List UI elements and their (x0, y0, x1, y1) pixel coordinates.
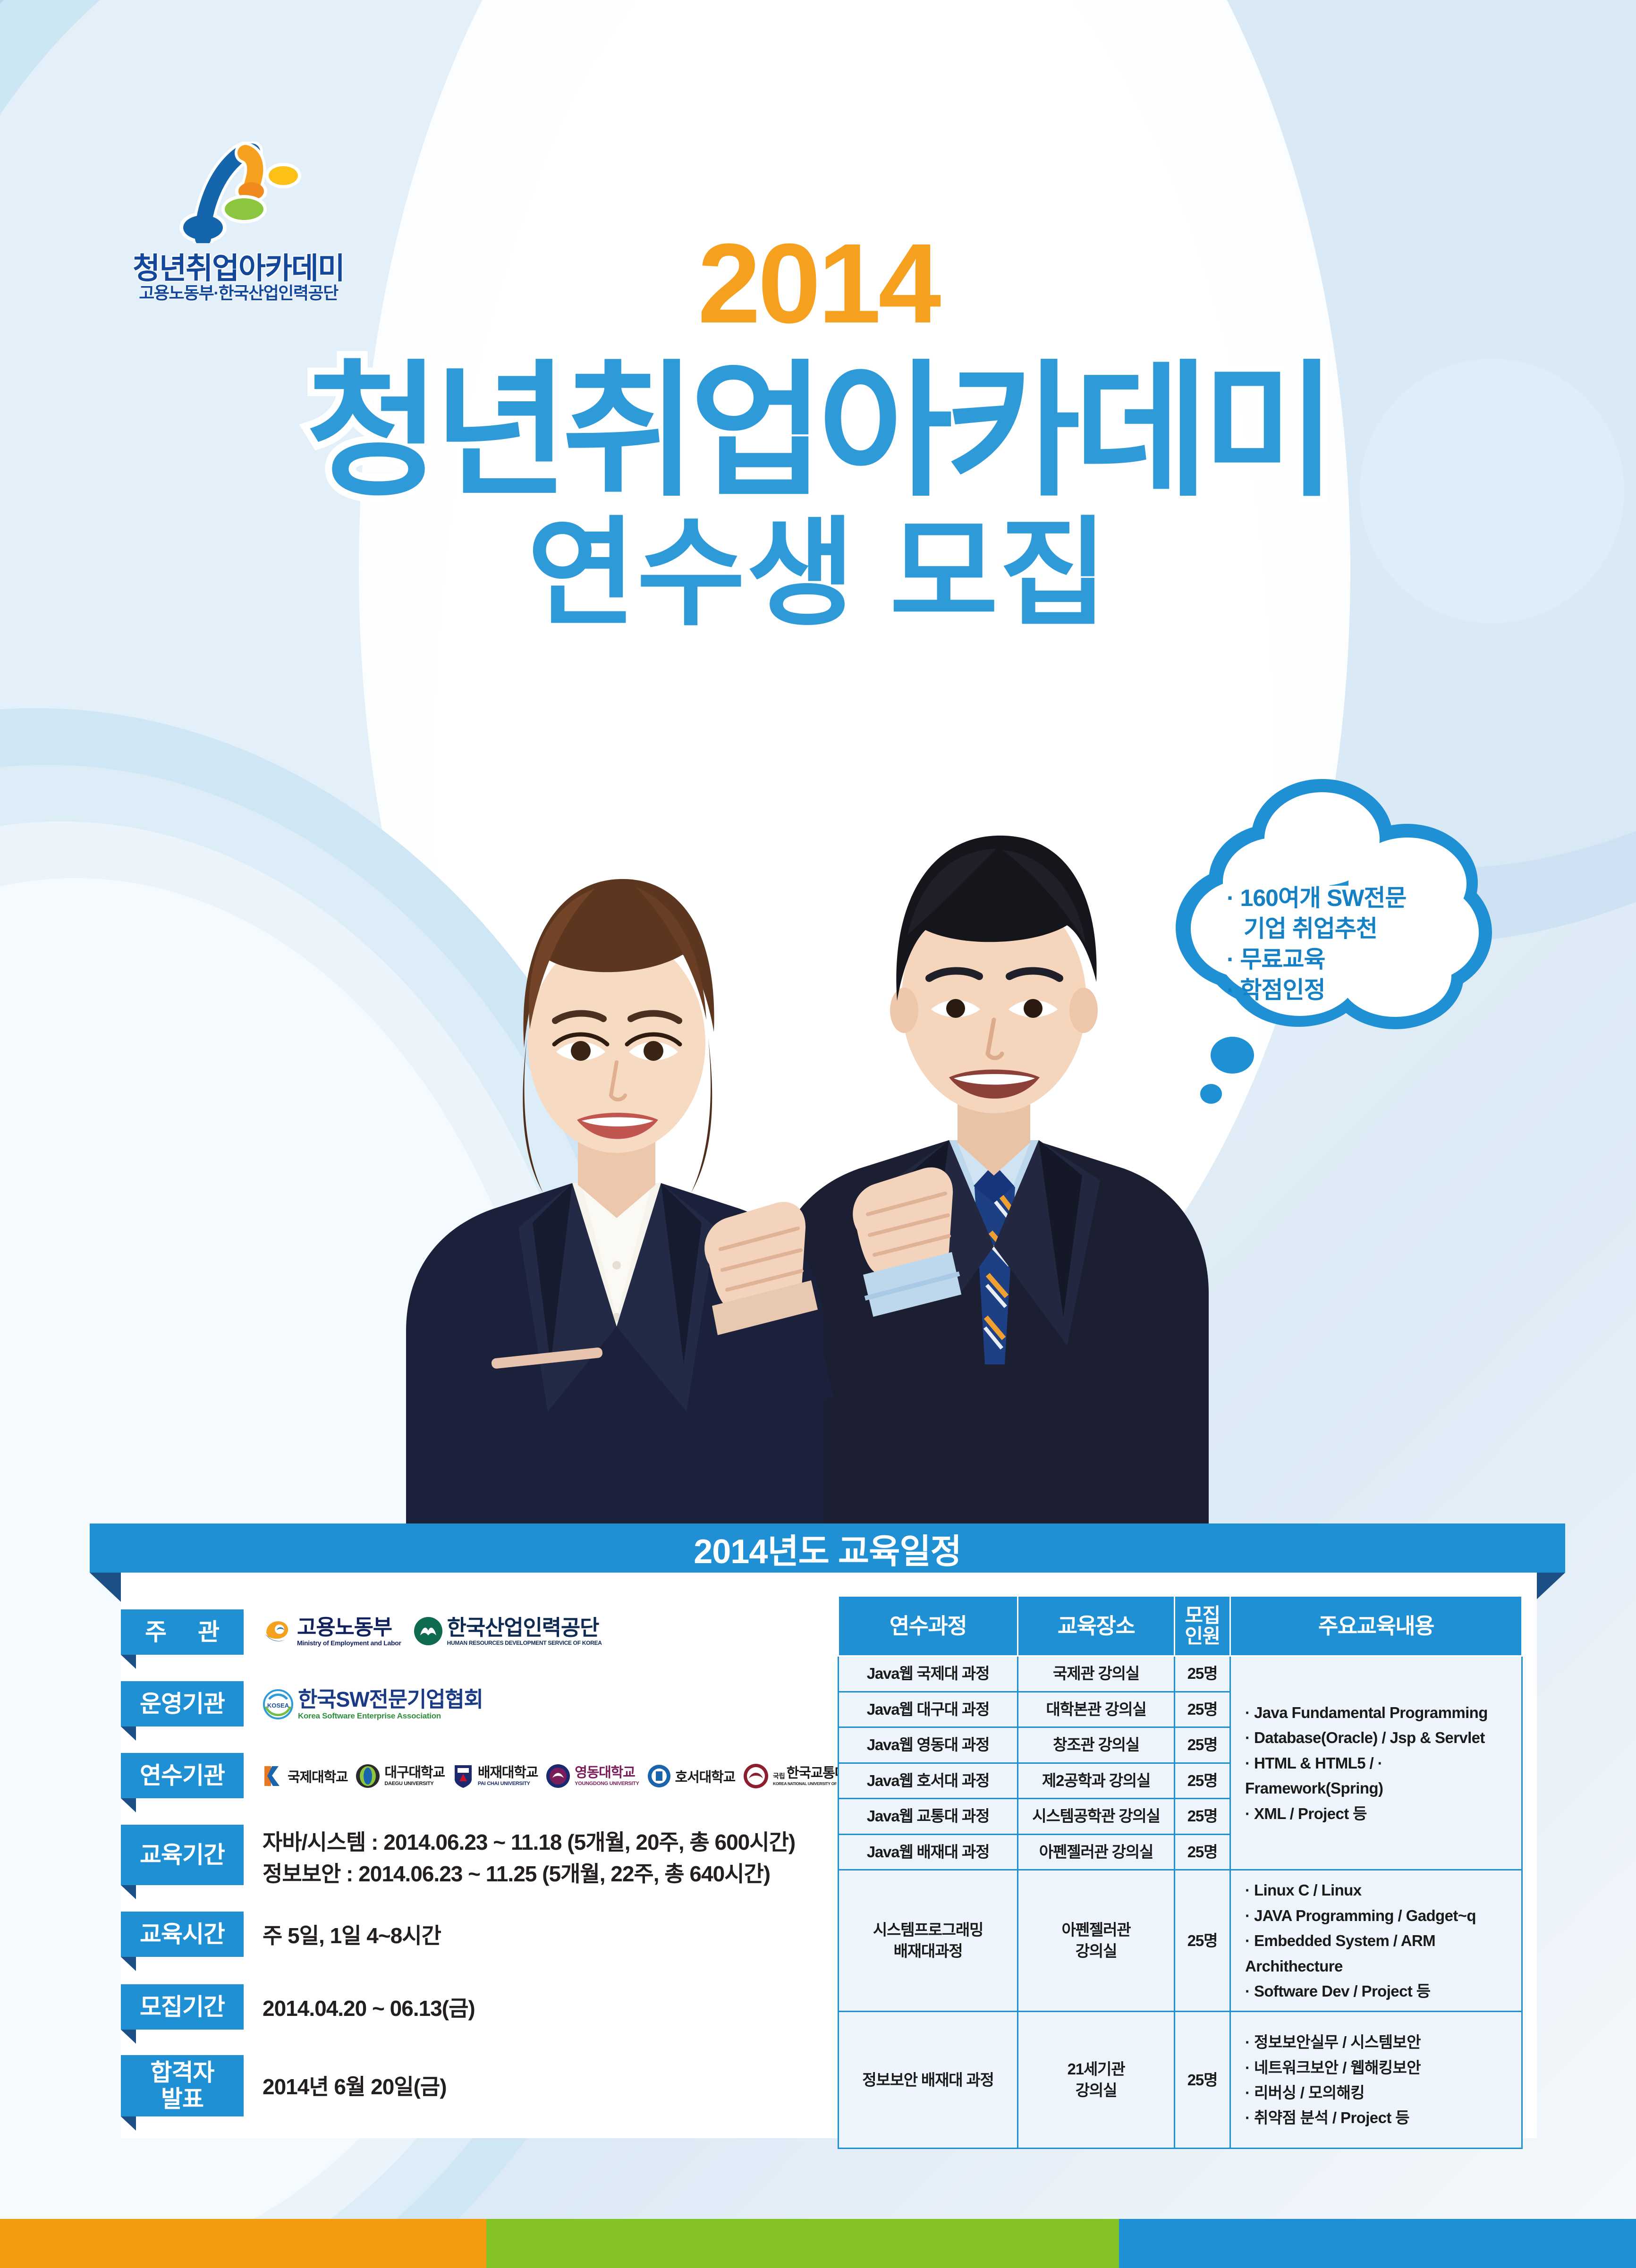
kosea-text: 한국SW전문기업협회 Korea Software Enterprise Ass… (298, 1689, 483, 1720)
host-logos: 고용노동부 Ministry of Employment and Labor 한… (263, 1616, 602, 1646)
info-label-host: 주 관 (121, 1609, 244, 1655)
institution-logos: 국제대학교 대구대학교 DAEGU UNIVERSITY (263, 1763, 873, 1789)
logo-kosea: KOSEA 한국SW전문기업협회 Korea Software Enterpri… (263, 1689, 483, 1720)
header-place: 교육장소 (1018, 1596, 1175, 1656)
content-line: · Java Fundamental Programming (1245, 1700, 1518, 1725)
content-line: · 리버싱 / 모의해킹 (1245, 2080, 1518, 2105)
period-line-1: 자바/시스템 : 2014.06.23 ~ 11.18 (5개월, 20주, 총… (263, 1827, 795, 1858)
color-block-green (486, 2219, 1119, 2268)
uni-kookje-name: 국제대학교 (288, 1766, 348, 1786)
place-cell: 대학본관 강의실 (1018, 1692, 1175, 1727)
course-cell: Java웹 대구대 과정 (839, 1692, 1018, 1727)
course-cell: Java웹 영동대 과정 (839, 1727, 1018, 1763)
headline-year: 2014 (0, 227, 1636, 340)
application-value: 2014.04.20 ~ 06.13(금) (263, 1993, 475, 2024)
content-line: · Database(Oracle) / Jsp & Servlet (1245, 1725, 1518, 1750)
info-fold-announcement (121, 2116, 136, 2131)
kookje-emblem-icon (263, 1764, 283, 1788)
content-line: · JAVA Programming / Gadget~q (1245, 1903, 1518, 1928)
place-cell: 제2공학과 강의실 (1018, 1763, 1175, 1799)
molab-text: 고용노동부 Ministry of Employment and Labor (297, 1616, 401, 1646)
quota-cell: 25명 (1175, 2012, 1230, 2149)
content-line: · 네트워크보안 / 웹해킹보안 (1245, 2055, 1518, 2080)
header-quota-line2: 인원 (1185, 1625, 1220, 1647)
course-line1: 시스템프로그래밍 (873, 1921, 983, 1938)
uni-youngdong-text: 영동대학교 YOUNGDONG UNIVERSITY (575, 1766, 639, 1786)
period-line-2: 정보보안 : 2014.06.23 ~ 11.25 (5개월, 22주, 총 6… (263, 1858, 795, 1890)
content-cell-sysprog: · Linux C / Linux · JAVA Programming / G… (1230, 1870, 1522, 2012)
place-cell: 아펜젤러관 강의실 (1018, 1834, 1175, 1870)
uni-kookje: 국제대학교 (263, 1764, 348, 1788)
bubble-line-2: 기업 취업추천 (1227, 914, 1449, 944)
place-cell-sysprog: 아펜젤러관 강의실 (1018, 1870, 1175, 2012)
info-fold-period (121, 1885, 136, 1899)
molab-emblem-icon (263, 1616, 293, 1646)
hoseo-emblem-icon (647, 1764, 671, 1788)
operator-logos: KOSEA 한국SW전문기업협회 Korea Software Enterpri… (263, 1689, 483, 1720)
schedule-banner: 2014년도 교육일정 (90, 1523, 1565, 1573)
info-fold-host (121, 1655, 136, 1669)
headline-main: 청년취업아카데미 (0, 357, 1636, 506)
transportation-emblem-icon (743, 1763, 769, 1789)
quota-cell: 25명 (1175, 1656, 1230, 1692)
quota-cell: 25명 (1175, 1727, 1230, 1763)
info-fold-operator (121, 1726, 136, 1741)
header-quota-line1: 모집 (1185, 1604, 1220, 1626)
announcement-label-line1: 합격자 (151, 2059, 214, 2086)
kosea-name-kr: 한국SW전문기업협회 (298, 1689, 483, 1710)
course-cell: Java웹 국제대 과정 (839, 1656, 1018, 1692)
color-block-blue (1119, 2219, 1636, 2268)
place-line1: 아펜젤러관 (1062, 1921, 1131, 1938)
content-line: · HTML & HTML5 / · Framework(Spring) (1245, 1751, 1518, 1801)
info-fold-institutions (121, 1798, 136, 1812)
schedule-table: 연수과정 교육장소 모집 인원 주요교육내용 Java웹 국제대 과정 국제관 … (838, 1595, 1523, 2149)
uni-daegu: 대구대학교 DAEGU UNIVERSITY (356, 1764, 444, 1788)
uni-paichai-name: 배재대학교 (478, 1766, 538, 1780)
headline-sub: 연수생 모집 (0, 512, 1636, 636)
uni-daegu-name: 대구대학교 (384, 1766, 444, 1780)
course-cell: Java웹 호서대 과정 (839, 1763, 1018, 1799)
period-values: 자바/시스템 : 2014.06.23 ~ 11.18 (5개월, 20주, 총… (263, 1827, 795, 1889)
place-cell: 국제관 강의실 (1018, 1656, 1175, 1692)
uni-paichai-name-en: PAI CHAI UNIVERSITY (478, 1781, 538, 1786)
people-illustration (406, 736, 1209, 1539)
table-row: 정보보안 배재대 과정 21세기관 강의실 25명 · 정보보안실무 / 시스템… (839, 2012, 1522, 2149)
table-row: 시스템프로그래밍 배재대과정 아펜젤러관 강의실 25명 · Linux C /… (839, 1870, 1522, 2012)
uni-youngdong-name-en: YOUNGDONG UNIVERSITY (575, 1781, 639, 1786)
molab-name-en: Ministry of Employment and Labor (297, 1640, 401, 1646)
schedule-header-row: 연수과정 교육장소 모집 인원 주요교육내용 (839, 1596, 1522, 1656)
place-line2: 강의실 (1076, 2082, 1117, 2099)
bottom-color-bar (0, 2219, 1636, 2268)
info-label-application: 모집기간 (121, 1984, 244, 2030)
kosea-name-en: Korea Software Enterprise Association (298, 1712, 483, 1720)
announcement-value: 2014년 6월 20일(금) (263, 2071, 447, 2103)
logo-molab: 고용노동부 Ministry of Employment and Labor (263, 1616, 401, 1646)
content-line: · Software Dev / Project 등 (1245, 1979, 1518, 2004)
course-cell: Java웹 교통대 과정 (839, 1799, 1018, 1835)
info-label-operator: 운영기관 (121, 1681, 244, 1726)
uni-daegu-name-en: DAEGU UNIVERSITY (384, 1781, 444, 1786)
content-line: · 취약점 분석 / Project 등 (1245, 2105, 1518, 2130)
hrdkorea-name-kr: 한국산업인력공단 (447, 1617, 602, 1638)
content-line: · Linux C / Linux (1245, 1878, 1518, 1903)
bubble-line-1: · 160여개 SW전문 (1227, 883, 1449, 914)
quota-cell: 25명 (1175, 1799, 1230, 1835)
content-cell-security: · 정보보안실무 / 시스템보안 · 네트워크보안 / 웹해킹보안 · 리버싱 … (1230, 2012, 1522, 2149)
course-cell-sysprog: 시스템프로그래밍 배재대과정 (839, 1870, 1018, 2012)
info-label-period: 교육기간 (121, 1825, 244, 1885)
place-cell: 시스템공학관 강의실 (1018, 1799, 1175, 1835)
molab-name-kr: 고용노동부 (297, 1616, 401, 1638)
hours-value: 주 5일, 1일 4~8시간 (263, 1920, 441, 1952)
place-cell-security: 21세기관 강의실 (1018, 2012, 1175, 2149)
quota-cell: 25명 (1175, 1834, 1230, 1870)
info-label-announcement: 합격자 발표 (121, 2055, 244, 2116)
logo-hrdkorea: 한국산업인력공단 HUMAN RESOURCES DEVELOPMENT SER… (414, 1616, 602, 1646)
bubble-line-4: · 학점인정 (1227, 975, 1449, 1006)
quota-cell: 25명 (1175, 1763, 1230, 1799)
kosea-emblem-icon: KOSEA (263, 1689, 294, 1720)
headline: 2014 청년취업아카데미 연수생 모집 (0, 227, 1636, 636)
uni-hoseo: 호서대학교 (647, 1764, 735, 1788)
banner-title: 2014년도 교육일정 (694, 1523, 961, 1573)
color-block-orange (0, 2219, 486, 2268)
info-fold-hours (121, 1957, 136, 1971)
header-course: 연수과정 (839, 1596, 1018, 1656)
youngdong-emblem-icon (546, 1764, 570, 1788)
hrdkorea-name-en: HUMAN RESOURCES DEVELOPMENT SERVICE OF K… (447, 1640, 602, 1646)
content-line: · 정보보안실무 / 시스템보안 (1245, 2030, 1518, 2055)
content-cell-java: · Java Fundamental Programming · Databas… (1230, 1656, 1522, 1870)
content-line: · XML / Project 등 (1245, 1801, 1518, 1826)
hrdkorea-text: 한국산업인력공단 HUMAN RESOURCES DEVELOPMENT SER… (447, 1617, 602, 1646)
woman-figure (406, 879, 834, 1539)
paichai-emblem-icon (453, 1763, 474, 1789)
course-cell: Java웹 배재대 과정 (839, 1834, 1018, 1870)
bubble-tail-large (1211, 1037, 1254, 1074)
content-line: · Embedded System / ARM Archithecture (1245, 1928, 1518, 1979)
bubble-tail-small (1200, 1084, 1222, 1104)
daegu-emblem-icon (356, 1764, 380, 1788)
man-figure (772, 836, 1209, 1539)
bubble-line-3: · 무료교육 (1227, 944, 1449, 975)
uni-youngdong-name: 영동대학교 (575, 1766, 639, 1780)
info-label-institutions: 연수기관 (121, 1753, 244, 1798)
people-photo (406, 736, 1209, 1539)
quota-cell: 25명 (1175, 1692, 1230, 1727)
uni-hoseo-name: 호서대학교 (675, 1766, 735, 1786)
hrdkorea-emblem-icon (414, 1616, 443, 1646)
place-line1: 21세기관 (1068, 2060, 1125, 2078)
uni-paichai-text: 배재대학교 PAI CHAI UNIVERSITY (478, 1766, 538, 1786)
uni-daegu-text: 대구대학교 DAEGU UNIVERSITY (384, 1766, 444, 1786)
info-label-hours: 교육시간 (121, 1912, 244, 1957)
info-fold-application (121, 2030, 136, 2044)
quota-cell: 25명 (1175, 1870, 1230, 2012)
thought-bubble: · 160여개 SW전문 기업 취업추천 · 무료교육 · 학점인정 (1171, 779, 1492, 1072)
uni-transportation-prefix: 국립 (773, 1773, 785, 1780)
header-content: 주요교육내용 (1230, 1596, 1522, 1656)
course-cell-security: 정보보안 배재대 과정 (839, 2012, 1018, 2149)
announcement-label-line2: 발표 (161, 2086, 203, 2112)
table-row: Java웹 국제대 과정 국제관 강의실 25명 · Java Fundamen… (839, 1656, 1522, 1692)
uni-youngdong: 영동대학교 YOUNGDONG UNIVERSITY (546, 1764, 639, 1788)
place-cell: 창조관 강의실 (1018, 1727, 1175, 1763)
info-list: 주 관 고용노동부 Ministry of Employment and Lab… (121, 1573, 829, 2138)
course-line2: 배재대과정 (894, 1942, 963, 1960)
header-quota: 모집 인원 (1175, 1596, 1230, 1656)
bubble-text: · 160여개 SW전문 기업 취업추천 · 무료교육 · 학점인정 (1227, 883, 1449, 1006)
poster-root: 청년취업아카데미 고용노동부·한국산업인력공단 2014 청년취업아카데미 연수… (0, 0, 1636, 2268)
svg-text:KOSEA: KOSEA (267, 1702, 289, 1709)
info-panel: 주 관 고용노동부 Ministry of Employment and Lab… (121, 1573, 1537, 2138)
uni-paichai: 배재대학교 PAI CHAI UNIVERSITY (453, 1763, 538, 1789)
place-line2: 강의실 (1076, 1942, 1117, 1960)
